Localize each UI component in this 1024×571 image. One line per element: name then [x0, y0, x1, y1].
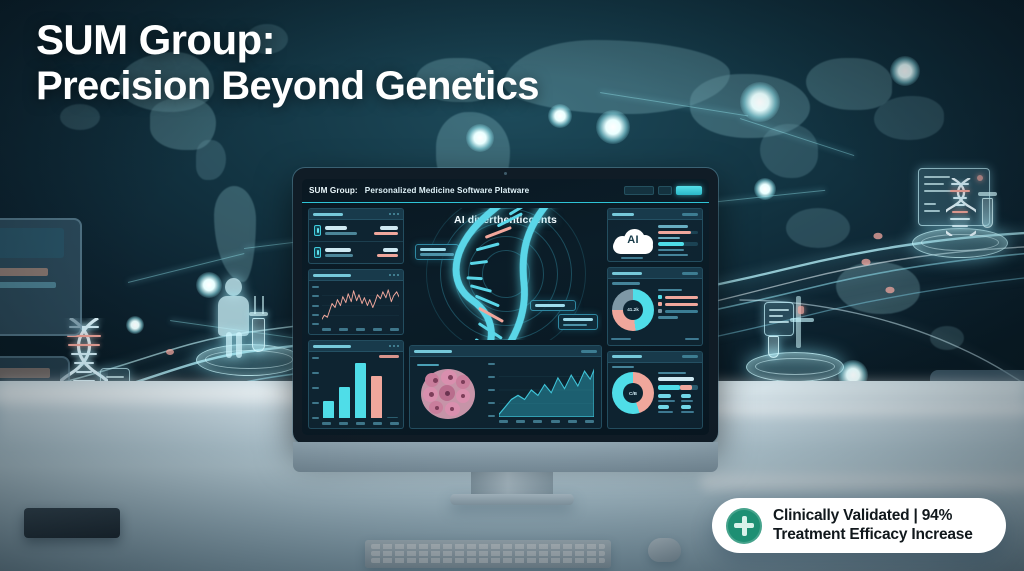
headline-line-2: Precision Beyond Genetics: [36, 65, 539, 107]
badge-line-2: Treatment Efficacy Increase: [773, 526, 973, 544]
poster-canvas: SUM Group:Personalized Medicine Software…: [0, 0, 1024, 571]
headline-line-1: SUM Group:: [36, 18, 539, 63]
badge-line-1: Clinically Validated | 94%: [773, 507, 973, 525]
status-badge: Clinically Validated | 94% Treatment Eff…: [712, 498, 1006, 553]
badge-text: Clinically Validated | 94% Treatment Eff…: [773, 507, 973, 544]
page-title: SUM Group: Precision Beyond Genetics: [36, 18, 539, 107]
medical-cross-icon: [726, 508, 762, 544]
ai-cloud-label: AI: [612, 234, 654, 246]
